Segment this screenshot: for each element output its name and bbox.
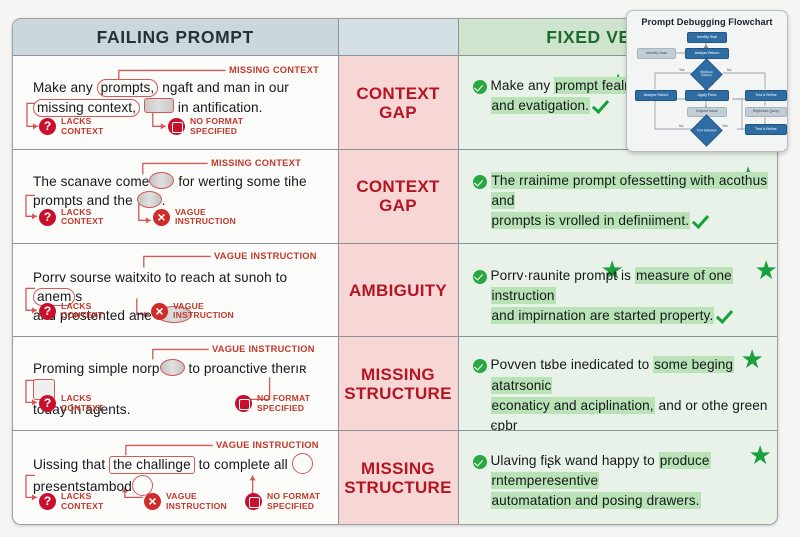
x-icon [153, 209, 170, 226]
flowchart-node-identify-goal-alt: Identify Goal [637, 48, 676, 59]
category-label: MISSING [361, 365, 435, 384]
category-label: STRUCTURE [344, 478, 452, 497]
flowchart-node-apply-fixes: Apply Fixes [685, 90, 729, 101]
checkmark-icon [694, 214, 711, 226]
question-icon: ? [39, 493, 56, 510]
flowchart-decision-label: Test Solution [697, 129, 717, 132]
flowchart-node-analyze-fixes: Analyze Failure [635, 90, 677, 101]
highlighted-text: prompt fealn [554, 77, 633, 94]
text-fragment: Porrv sourse waitxito to reach at sʋnoh … [33, 270, 287, 285]
callout-label-5: VAGUE INSTRUCTION [216, 440, 319, 450]
empty-circle-mark [292, 453, 313, 474]
highlighted-word-prompts: prompts, [97, 79, 159, 97]
category-cell-4: MISSING STRUCTURE [338, 337, 458, 431]
fixed-version-cell-3: ★ ★ Porrv·raunite prompt is measure of o… [458, 243, 777, 337]
callout-label-4: VAGUE INSTRUCTION [212, 344, 315, 354]
square-icon [235, 395, 252, 412]
table-row: MISSING CONTEXT The scanave come for wer… [13, 150, 777, 244]
badge-lacks-context-2: ? LACKSCONTEXT [39, 208, 103, 227]
badge-label: LACKSCONTEXT [61, 394, 103, 413]
page-background: FAILING PROMPT FIXED VERSION [0, 0, 800, 537]
question-icon: ? [39, 303, 56, 320]
badge-label: LACKSCONTEXT [61, 208, 103, 227]
highlighted-text: and evatigation. [491, 97, 591, 114]
badge-label: VAGUEINSTRUCTION [173, 302, 234, 321]
category-cell-2: CONTEXT GAP [338, 150, 458, 244]
text-fragment: for werting some tihe [174, 174, 306, 189]
fixed-version-cell-2: ★ The rrainime prompt ofessetting with a… [458, 150, 777, 244]
text-fragment: to proanctive therıʀ [185, 361, 307, 376]
check-circle-icon [473, 270, 487, 284]
text-fragment: Proming simple norp [33, 361, 160, 376]
badge-lacks-context-4: ? LACKSCONTEXT [39, 394, 103, 413]
category-label: GAP [379, 196, 417, 215]
category-cell-3: AMBIGUITY [338, 243, 458, 337]
failing-prompt-cell-5: VAGUE INSTRUCTION Uissing that the chall… [13, 431, 338, 524]
table-row: VAGUE INSTRUCTION Proming simple norp to… [13, 337, 777, 431]
badge-label: NO FORMATSPECIFIED [267, 492, 320, 511]
text-fragment: Ulaving fiʂk wand happy to [491, 453, 659, 468]
failing-prompt-text-1: Make any prompts, ngaft and man in our m… [33, 78, 311, 117]
flowchart-node-test-refine-top: Test & Refine [745, 90, 787, 101]
flowchart-inset-panel: Prompt Debugging Flowchart [626, 10, 788, 152]
highlighted-text: prompts is vrolled in definiiment. [491, 212, 691, 229]
failing-prompt-cell-1: MISSING CONTEXT Make any prompts, ngaft … [13, 56, 338, 150]
boxed-phrase-the-challinge: the challinge [109, 456, 195, 474]
column-header-failing-prompt: FAILING PROMPT [13, 19, 338, 56]
highlighted-word-missing-context: missing context, [33, 99, 140, 117]
failing-prompt-text-2: The scanave come for werting some tihe p… [33, 172, 311, 211]
fixed-version-text-5: Ulaving fiʂk wand happy to produce rntem… [491, 451, 779, 511]
badge-vague-instruction-2: VAGUEINSTRUCTION [153, 208, 236, 227]
x-icon [144, 493, 161, 510]
badge-lacks-context-5: ? LACKSCONTEXT [39, 492, 103, 511]
badge-label: LACKSCONTEXT [61, 302, 103, 321]
text-fragment: ngaft and man in our [158, 80, 289, 95]
category-label: STRUCTURE [344, 384, 452, 403]
flowchart-edge-label-yes-2: Yes [708, 82, 714, 86]
highlighted-text: econaticy and aciplination, [491, 397, 655, 414]
flowchart-node-identify-goal: Identify Goal [687, 32, 727, 43]
category-label: AMBIGUITY [349, 281, 447, 300]
highlighted-text: automatation and posing drawers. [491, 492, 701, 509]
callout-label-3: VAGUE INSTRUCTION [214, 251, 317, 261]
flowchart-decision-label: Rediuce Failure [696, 71, 717, 78]
text-fragment: . [162, 193, 166, 208]
badge-vague-instruction-5: VAGUEINSTRUCTION [144, 492, 227, 511]
check-circle-icon [473, 80, 487, 94]
badge-lacks-context-3: ? LACKSCONTEXT [39, 302, 103, 321]
text-fragment: Porrv·raunite prompt is [491, 268, 635, 283]
flowchart-edge-label-no-2: No [679, 124, 683, 128]
table-row: VAGUE INSTRUCTION Uissing that the chall… [13, 431, 777, 524]
redacted-blur-box [144, 98, 174, 113]
square-icon [245, 493, 262, 510]
failing-prompt-text-5: Uissing that the challinge to complete a… [33, 453, 329, 496]
checkmark-icon [718, 309, 735, 321]
badge-vague-instruction-3: VAGUEINSTRUCTION [151, 302, 234, 321]
check-circle-icon [473, 455, 487, 469]
badge-label: NO FORMATSPECIFIED [257, 394, 310, 413]
flowchart-node-rephrase-query: Rephrase Query [745, 107, 787, 117]
square-icon [168, 118, 185, 135]
flowchart-edge-label-no: No [727, 68, 731, 72]
table-row: VAGUE INSTRUCTION Porrv sourse waitxito … [13, 243, 777, 337]
flowchart-node-test-refine-bottom: Test & Refine [745, 124, 787, 135]
check-circle-icon [473, 175, 487, 189]
category-cell-1: CONTEXT GAP [338, 56, 458, 150]
text-fragment: Uissing that [33, 457, 109, 472]
badge-lacks-context-1: ? LACKSCONTEXT [39, 117, 103, 136]
question-icon: ? [39, 118, 56, 135]
badge-label: VAGUEINSTRUCTION [175, 208, 236, 227]
question-icon: ? [39, 209, 56, 226]
flowchart-edge-label-yes: Yes [679, 68, 685, 72]
text-fragment: Make any [33, 80, 97, 95]
badge-label: LACKSCONTEXT [61, 117, 103, 136]
fixed-version-text-3: Porrv·raunite prompt is measure of one i… [491, 266, 779, 326]
question-icon: ? [39, 395, 56, 412]
badge-no-format-5: NO FORMATSPECIFIED [245, 492, 320, 511]
redacted-blur-circle [149, 172, 174, 189]
category-label: MISSING [361, 459, 435, 478]
x-icon [151, 303, 168, 320]
badge-label: NO FORMATSPECIFIED [190, 117, 243, 136]
badge-label: VAGUEINSTRUCTION [166, 492, 227, 511]
failing-prompt-cell-4: VAGUE INSTRUCTION Proming simple norp to… [13, 337, 338, 431]
category-label: CONTEXT [356, 177, 439, 196]
text-fragment: to complete all [195, 457, 292, 472]
category-label: GAP [379, 103, 417, 122]
text-fragment: Make any [491, 78, 555, 93]
check-circle-icon [473, 359, 487, 373]
category-cell-5: MISSING STRUCTURE [338, 431, 458, 524]
badge-no-format-4: NO FORMATSPECIFIED [235, 394, 310, 413]
failing-prompt-cell-2: MISSING CONTEXT The scanave come for wer… [13, 150, 338, 244]
fixed-version-cell-4: ★ Povven tʁbe inedicated to some beging … [458, 337, 777, 431]
category-label: CONTEXT [356, 84, 439, 103]
text-fragment: The scanave come [33, 174, 149, 189]
callout-label-2: MISSING CONTEXT [211, 158, 301, 168]
flowchart-node-analyze-failure: Analyze Failure [685, 48, 729, 59]
column-header-category [338, 19, 458, 56]
callout-label-1: MISSING CONTEXT [229, 65, 319, 75]
highlighted-text: The rrainime prompt ofessetting with aco… [491, 172, 769, 209]
badge-label: LACKSCONTEXT [61, 492, 103, 511]
text-fragment: in antification. [174, 100, 263, 115]
text-fragment: Povven tʁbe inedicated to [491, 357, 654, 372]
fixed-version-cell-5: ★ Ulaving fiʂk wand happy to produce rnt… [458, 431, 777, 524]
badge-no-format-1: NO FORMATSPECIFIED [168, 117, 243, 136]
checkmark-icon [594, 99, 611, 111]
highlighted-text: and impirnation are started property. [491, 307, 715, 324]
failing-prompt-cell-3: VAGUE INSTRUCTION Porrv sourse waitxito … [13, 243, 338, 337]
redacted-blur-circle [160, 359, 185, 376]
redacted-blur-circle [137, 191, 162, 208]
fixed-version-text-2: The rrainime prompt ofessetting with aco… [491, 171, 777, 231]
flowchart-edge-label-yes-3: Yes [722, 124, 728, 128]
